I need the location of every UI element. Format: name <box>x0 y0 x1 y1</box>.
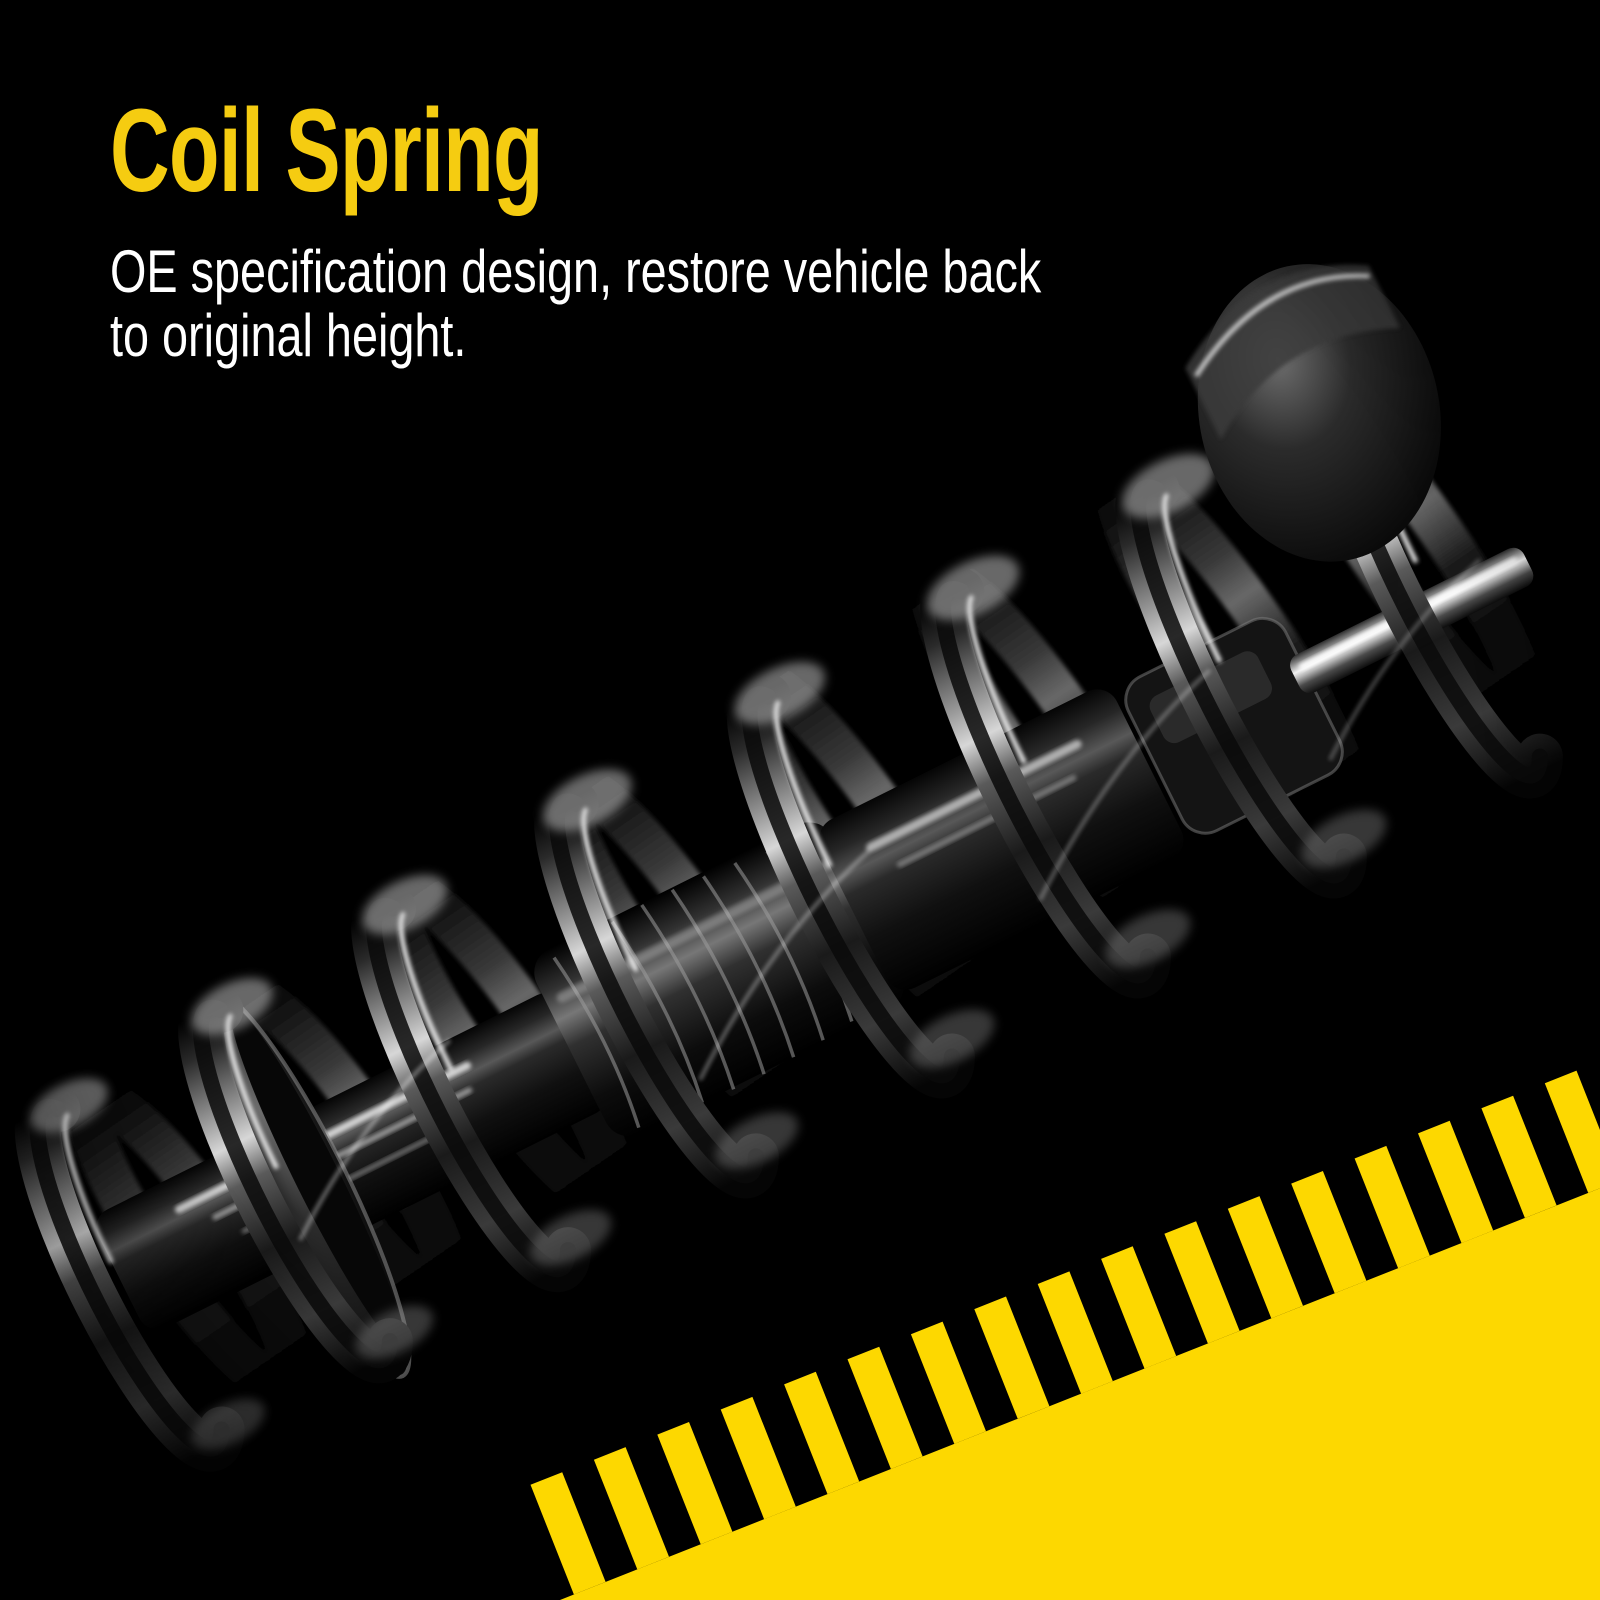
subtitle: OE specification design, restore vehicle… <box>110 210 1093 367</box>
page-title: Coil Spring <box>110 92 992 210</box>
subtitle-line-2: to original height. <box>110 304 1093 368</box>
subtitle-line-1: OE specification design, restore vehicle… <box>110 238 1041 305</box>
headline-block: Coil Spring OE specification design, res… <box>110 92 1370 367</box>
product-marketing-image: Coil Spring OE specification design, res… <box>0 0 1600 1600</box>
